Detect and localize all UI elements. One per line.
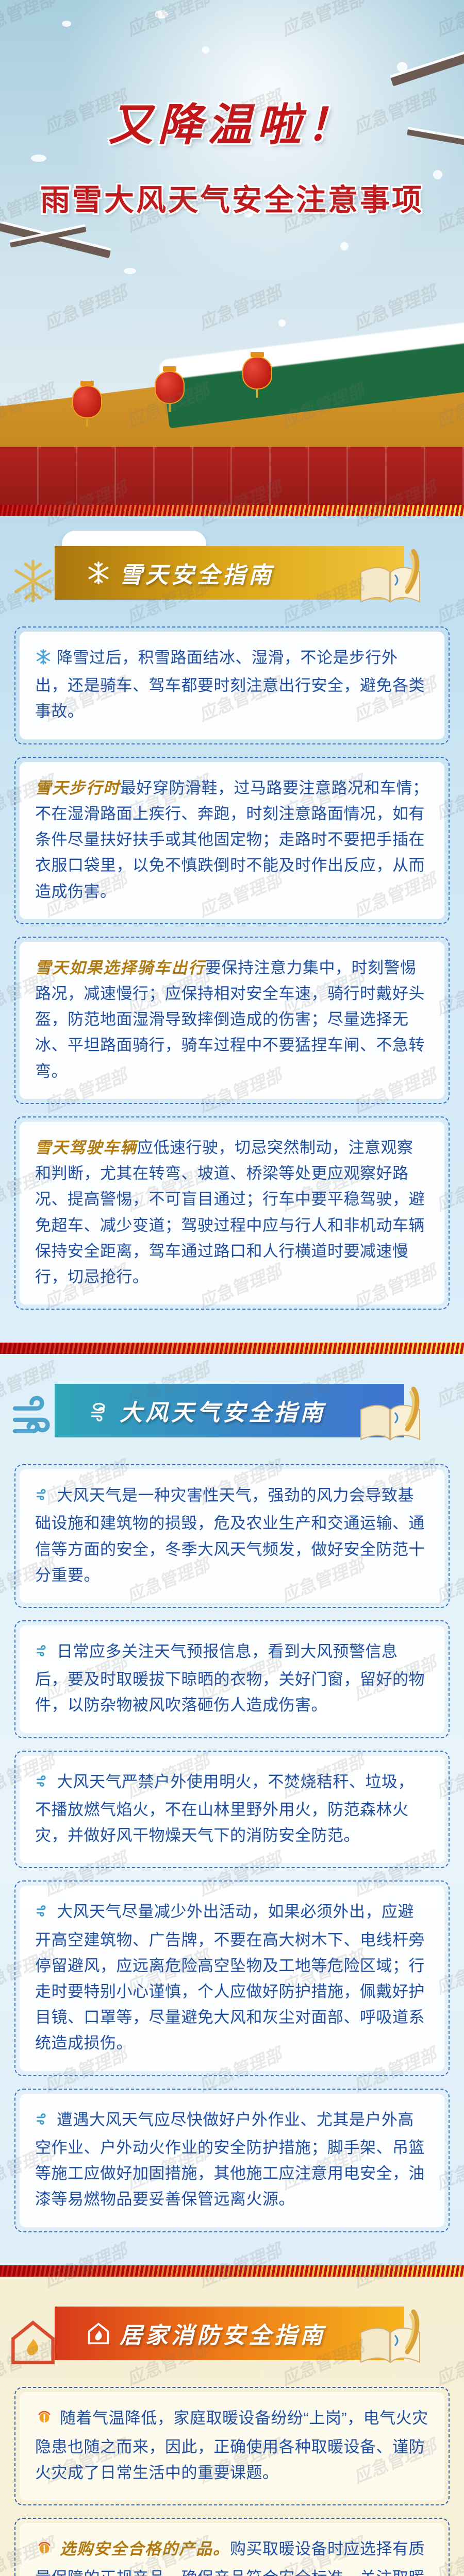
fire-banner-plate: 居家消防安全指南 (55, 2307, 404, 2360)
snow-banner-row: 雪天安全指南 (0, 516, 464, 614)
snow-card-2: 雪天步行时最好穿防滑鞋，过马路要注意路况和车情；不在湿滑路面上疾行、奔跑，时刻注… (14, 757, 450, 924)
wind-card-1: 大风天气是一种灾害性天气，强劲的风力会导致基础设施和建筑物的损毁，危及农业生产和… (14, 1464, 450, 1608)
red-wall-columns (0, 447, 464, 505)
wind-icon (35, 1485, 53, 1511)
section-fire: 居家消防安全指南 (0, 2277, 464, 2576)
divider-band (0, 505, 464, 516)
snowflake-icon (87, 561, 110, 585)
book-quill-icon (357, 2309, 424, 2366)
warning-icon (35, 2539, 55, 2565)
fire-card-2-lead: 选购安全合格的产品。 (60, 2540, 230, 2558)
wind-card-3-body: 大风天气严禁户外使用明火，不焚烧秸秆、垃圾，不播放燃气焰火，不在山林里野外用火，… (35, 1773, 414, 1844)
fire-card-2-text: 选购安全合格的产品。购买取暖设备时应选择有质量保障的正规产品，确保产品符合安全标… (35, 2536, 429, 2576)
wind-card-5-text: 遭遇大风天气应尽快做好户外作业、尤其是户外高空作业、户外动火作业的安全防护措施；… (35, 2107, 429, 2213)
wind-icon (35, 2109, 53, 2135)
lantern-icon (155, 371, 185, 404)
snow-card-3: 雪天如果选择骑车出行要保持注意力集中，时刻警惕路况，减速慢行；应保持相对安全车速… (14, 937, 450, 1104)
fire-card-1: 随着气温降低，家庭取暖设备纷纷“上岗”，电气火灾隐患也随之而来，因此，正确使用各… (14, 2387, 450, 2506)
fire-banner-label: 居家消防安全指南 (120, 2317, 326, 2350)
wind-card-3-text: 大风天气严禁户外使用明火，不焚烧秸秆、垃圾，不播放燃气焰火，不在山林里野外用火，… (35, 1769, 429, 1849)
snow-card-3-text: 雪天如果选择骑车出行要保持注意力集中，时刻警惕路况，减速慢行；应保持相对安全车速… (35, 955, 429, 1084)
divider-band (0, 2265, 464, 2277)
wind-card-1-text: 大风天气是一种灾害性天气，强劲的风力会导致基础设施和建筑物的损毁，危及农业生产和… (35, 1483, 429, 1588)
hero-title-group: 又降温啦！ 雨雪大风天气安全注意事项 (0, 89, 464, 219)
wind-banner-row: 大风天气安全指南 (0, 1354, 464, 1452)
snow-card-4-lead: 雪天驾驶车辆 (35, 1139, 137, 1157)
divider-band (0, 1343, 464, 1354)
snow-card-1-text: 降雪过后，积雪路面结冰、湿滑，不论是步行外出，还是骑车、驾车都要时刻注意出行安全… (35, 645, 429, 725)
section-wind: 大风天气安全指南 (0, 1354, 464, 2265)
fire-banner-row: 居家消防安全指南 (0, 2277, 464, 2375)
snow-card-4-body: 应低速行驶，切忌突然制动，注意观察和判断，尤其在转弯、坡道、桥梁等处更应观察好路… (35, 1139, 425, 1286)
wind-card-4: 大风天气尽量减少外出活动，如果必须外出，应避开高空建筑物、广告牌，不要在高大树木… (14, 1880, 450, 2076)
snow-card-1: 降雪过后，积雪路面结冰、湿滑，不论是步行外出，还是骑车、驾车都要时刻注意出行安全… (14, 626, 450, 744)
wind-card-2: 日常应多关注天气预报信息，看到大风预警信息后，要及时取暖拔下晾晒的衣物，关好门窗… (14, 1620, 450, 1738)
snow-card-3-lead: 雪天如果选择骑车出行 (35, 959, 205, 977)
book-quill-icon (357, 548, 424, 606)
snow-card-2-text: 雪天步行时最好穿防滑鞋，过马路要注意路况和车情；不在湿滑路面上疾行、奔跑，时刻注… (35, 775, 429, 905)
warning-icon (35, 2408, 55, 2434)
wind-icon (35, 1771, 53, 1797)
poster-root: 又降温啦！ 雨雪大风天气安全注意事项 (0, 0, 464, 2576)
flame-house-icon (87, 2321, 110, 2345)
snow-card-3-body: 要保持注意力集中，时刻警惕路况，减速慢行；应保持相对安全车速，骑行时戴好头盔，防… (35, 959, 425, 1080)
snowflake-decoration (9, 556, 57, 606)
snow-card-2-body: 最好穿防滑鞋，过马路要注意路况和车情；不在湿滑路面上疾行、奔跑，时刻注意路面情况… (35, 779, 429, 901)
book-quill-icon (357, 1386, 424, 1444)
wind-banner-label: 大风天气安全指南 (120, 1394, 326, 1427)
wind-banner-plate: 大风天气安全指南 (55, 1384, 404, 1437)
snow-card-4-text: 雪天驾驶车辆应低速行驶，切忌突然制动，注意观察和判断，尤其在转弯、坡道、桥梁等处… (35, 1135, 429, 1290)
wind-card-4-text: 大风天气尽量减少外出活动，如果必须外出，应避开高空建筑物、广告牌，不要在高大树木… (35, 1899, 429, 2056)
snow-banner-label: 雪天安全指南 (120, 556, 274, 589)
snow-banner-plate: 雪天安全指南 (55, 546, 404, 600)
fire-card-1-text: 随着气温降低，家庭取暖设备纷纷“上岗”，电气火灾隐患也随之而来，因此，正确使用各… (35, 2405, 429, 2486)
wind-card-5-body: 遭遇大风天气应尽快做好户外作业、尤其是户外高空作业、户外动火作业的安全防护措施；… (35, 2111, 425, 2209)
wind-card-3: 大风天气严禁户外使用明火，不焚烧秸秆、垃圾，不播放燃气焰火，不在山林里野外用火，… (14, 1751, 450, 1869)
lantern-icon (242, 357, 272, 389)
snow-card-4: 雪天驾驶车辆应低速行驶，切忌突然制动，注意观察和判断，尤其在转弯、坡道、桥梁等处… (14, 1116, 450, 1310)
wind-card-2-body: 日常应多关注天气预报信息，看到大风预警信息后，要及时取暖拔下晾晒的衣物，关好门窗… (35, 1642, 425, 1714)
page-subtitle: 雨雪大风天气安全注意事项 (40, 176, 424, 219)
wind-icon (35, 1901, 53, 1927)
hero-section: 又降温啦！ 雨雪大风天气安全注意事项 (0, 0, 464, 505)
snow-card-1-body: 降雪过后，积雪路面结冰、湿滑，不论是步行外出，还是骑车、驾车都要时刻注意出行安全… (35, 649, 425, 720)
page-title: 又降温啦！ (108, 89, 356, 153)
wind-icon (35, 1641, 53, 1667)
section-snow: 雪天安全指南 (0, 516, 464, 1343)
wind-icon (87, 1399, 110, 1422)
snowflake-icon (35, 647, 53, 673)
wind-card-2-text: 日常应多关注天气预报信息，看到大风预警信息后，要及时取暖拔下晾晒的衣物，关好门窗… (35, 1639, 429, 1719)
snow-card-2-lead: 雪天步行时 (35, 779, 120, 797)
fire-card-1-body: 随着气温降低，家庭取暖设备纷纷“上岗”，电气火灾隐患也随之而来，因此，正确使用各… (35, 2409, 428, 2482)
lantern-icon (72, 385, 102, 418)
wind-card-1-body: 大风天气是一种灾害性天气，强劲的风力会导致基础设施和建筑物的损毁，危及农业生产和… (35, 1486, 425, 1584)
wind-card-5: 遭遇大风天气应尽快做好户外作业、尤其是户外高空作业、户外动火作业的安全防护措施；… (14, 2089, 450, 2232)
house-flame-decoration (9, 2317, 57, 2366)
wind-card-4-body: 大风天气尽量减少外出活动，如果必须外出，应避开高空建筑物、广告牌，不要在高大树木… (35, 1903, 425, 2052)
fire-card-2: 选购安全合格的产品。购买取暖设备时应选择有质量保障的正规产品，确保产品符合安全标… (14, 2518, 450, 2576)
wind-decoration (9, 1394, 57, 1444)
